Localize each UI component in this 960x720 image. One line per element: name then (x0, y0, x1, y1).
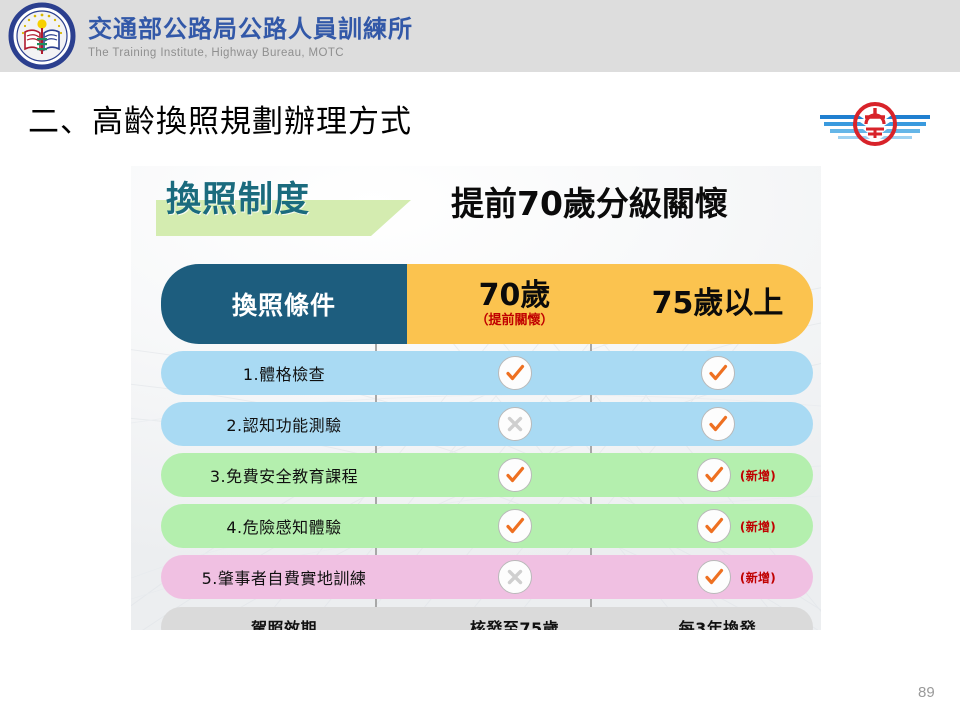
header-condition-label: 換照條件 (232, 286, 336, 322)
row-label: 4.危險感知體驗 (161, 504, 407, 548)
row-cell-age70 (407, 402, 622, 446)
header-cell-condition: 換照條件 (161, 264, 407, 344)
row-cell-age75: (新增) (622, 453, 813, 497)
card-header: 換照制度 提前70歲分級關懷 (131, 166, 821, 262)
row-cell-age75: (新增) (622, 504, 813, 548)
new-badge: (新增) (740, 518, 776, 535)
table-header-row: 換照條件 70歲 （提前關懷） 75歲以上 (161, 264, 813, 344)
header-age75-title: 75歲以上 (652, 288, 784, 320)
table-row: 5.肇事者自費實地訓練 (新增) (161, 555, 813, 599)
check-icon (701, 356, 735, 390)
slide-title: 二、高齡換照規劃辦理方式 (28, 96, 412, 141)
row-label: 1.體格檢查 (161, 351, 407, 395)
footer-label: 駕照效期 (161, 607, 407, 630)
table-row: 4.危險感知體驗 (新增) (161, 504, 813, 548)
page-number: 89 (918, 684, 935, 701)
check-icon (697, 560, 731, 594)
table-row: 1.體格檢查 (161, 351, 813, 395)
header-cell-age70: 70歲 （提前關懷） (407, 264, 622, 344)
check-icon (498, 458, 532, 492)
check-icon (701, 407, 735, 441)
institute-seal-icon (8, 2, 76, 70)
header-age70-title: 70歲 (479, 280, 551, 312)
row-cell-age70 (407, 555, 622, 599)
check-icon (498, 509, 532, 543)
footer-label-text: 駕照效期 (251, 615, 317, 630)
policy-comparison-card: 換照制度 提前70歲分級關懷 換照條件 70歲 （提前關懷） 75歲以上 (131, 166, 821, 630)
row-cell-age70 (407, 351, 622, 395)
institute-name-en: The Training Institute, Highway Bureau, … (88, 46, 413, 60)
header-age70-note: （提前關懷） (475, 313, 553, 329)
row-cell-age75 (622, 351, 813, 395)
new-badge: (新增) (740, 467, 776, 484)
table-footer-row: 駕照效期 核發至75歲 每3年換發 (161, 607, 813, 630)
table-row: 2.認知功能測驗 (161, 402, 813, 446)
row-label: 5.肇事者自費實地訓練 (161, 555, 407, 599)
check-icon (697, 509, 731, 543)
footer-cell-age70: 核發至75歲 (407, 607, 622, 630)
card-banner-label: 換照制度 (166, 176, 310, 224)
cross-icon (498, 407, 532, 441)
comparison-table: 換照條件 70歲 （提前關懷） 75歲以上 1.體格檢查 (161, 264, 813, 630)
card-headline: 提前70歲分級關懷 (451, 180, 728, 228)
header-cell-age75: 75歲以上 (622, 264, 813, 344)
table-row: 3.免費安全教育課程 (新增) (161, 453, 813, 497)
institute-name-block: 交通部公路局公路人員訓練所 The Training Institute, Hi… (88, 14, 413, 60)
row-cell-age75 (622, 402, 813, 446)
institute-name-zh: 交通部公路局公路人員訓練所 (88, 14, 413, 44)
check-icon (498, 356, 532, 390)
row-label: 3.免費安全教育課程 (161, 453, 407, 497)
row-label: 2.認知功能測驗 (161, 402, 407, 446)
row-cell-age70 (407, 453, 622, 497)
motc-winged-emblem-icon (818, 98, 932, 150)
row-cell-age75: (新增) (622, 555, 813, 599)
cross-icon (498, 560, 532, 594)
footer-age70-text: 核發至75歲 (470, 615, 559, 630)
row-cell-age70 (407, 504, 622, 548)
slide-canvas: 交通部公路局公路人員訓練所 The Training Institute, Hi… (0, 0, 960, 720)
footer-cell-age75: 每3年換發 (622, 607, 813, 630)
new-badge: (新增) (740, 569, 776, 586)
institute-header-bar: 交通部公路局公路人員訓練所 The Training Institute, Hi… (0, 0, 960, 72)
banner-tail (371, 200, 411, 236)
footer-age75-text: 每3年換發 (679, 615, 757, 630)
check-icon (697, 458, 731, 492)
